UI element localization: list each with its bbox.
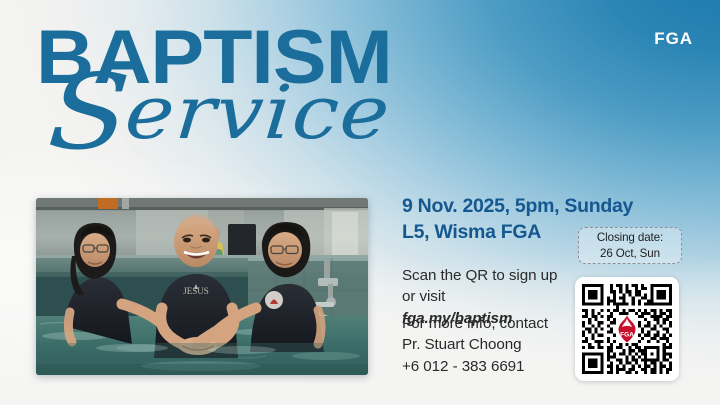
contact-info: For more info, contact Pr. Stuart Choong…	[402, 313, 587, 377]
baptism-photo-illustration: JESUS	[36, 198, 368, 375]
fga-logo-wordmark: FGA	[654, 30, 693, 47]
closing-date-value: 26 Oct, Sun	[600, 246, 660, 262]
qr-code-inner: FGA	[582, 284, 672, 374]
contact-name: Pr. Stuart Choong	[402, 334, 587, 355]
baptism-service-poster: FGA BAPTISM Service	[0, 0, 720, 405]
poster-title-block: BAPTISM Service	[36, 20, 416, 180]
closing-date-badge: Closing date: 26 Oct, Sun	[578, 227, 682, 264]
closing-date-label: Closing date:	[597, 230, 663, 246]
svg-text:FGA: FGA	[620, 332, 634, 339]
event-datetime: 9 Nov. 2025, 5pm, Sunday	[402, 194, 702, 220]
contact-phone[interactable]: +6 012 - 383 6691	[402, 356, 587, 377]
fga-flame-logo-icon: FGA	[615, 316, 640, 343]
signup-line-1: Scan the QR to sign up	[402, 265, 587, 286]
script-remainder: ervice	[122, 70, 394, 156]
qr-code-card[interactable]: FGA	[575, 277, 679, 381]
contact-intro: For more info, contact	[402, 313, 587, 334]
baptism-photo: JESUS	[36, 198, 368, 375]
page-subtitle-script: Service	[46, 76, 393, 150]
signup-prefix: or visit	[402, 286, 587, 307]
